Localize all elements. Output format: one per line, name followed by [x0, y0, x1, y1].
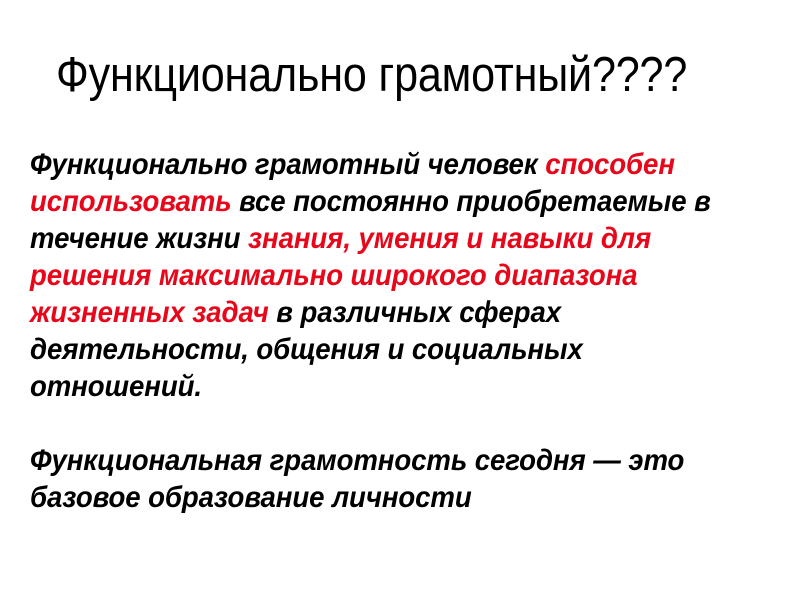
page-title: Функционально грамотный????: [56, 46, 672, 104]
text-run-normal: Функциональная грамотность сегодня — это…: [30, 444, 684, 514]
text-run-normal: Функционально грамотный человек: [30, 148, 545, 181]
slide: Функционально грамотный???? Функциональн…: [0, 0, 800, 600]
paragraph-definition: Функционально грамотный человек способен…: [30, 146, 755, 405]
paragraph-conclusion: Функциональная грамотность сегодня — это…: [30, 442, 755, 516]
slide-body: Функционально грамотный человек способен…: [30, 146, 760, 516]
paragraph-spacer: [30, 405, 760, 442]
